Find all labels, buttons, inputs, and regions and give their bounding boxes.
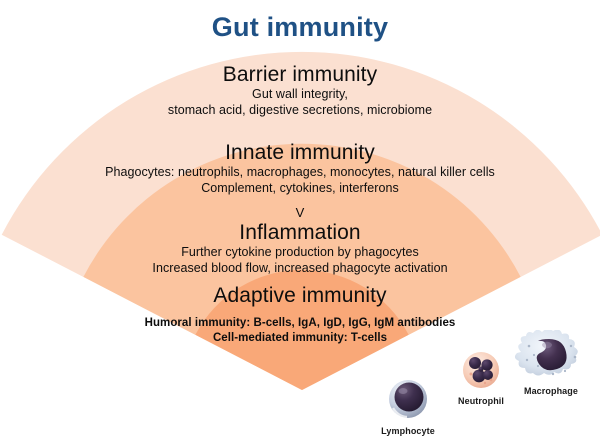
inflammation-line-2: Increased blood flow, increased phagocyt…	[0, 261, 600, 277]
lymphocyte-icon	[369, 378, 447, 420]
barrier-immunity-heading: Barrier immunity	[0, 62, 600, 87]
neutrophil-label: Neutrophil	[443, 396, 519, 406]
barrier-immunity-line-2: stomach acid, digestive secretions, micr…	[0, 103, 600, 119]
inflammation-line-1: Further cytokine production by phagocyte…	[0, 245, 600, 261]
down-arrow-icon: V	[0, 205, 600, 220]
macrophage-label: Macrophage	[505, 386, 597, 396]
adaptive-immunity-line-1: Humoral immunity: B-cells, IgA, IgD, IgG…	[0, 316, 600, 331]
adaptive-immunity-heading: Adaptive immunity	[0, 283, 600, 308]
innate-immunity-line-2: Complement, cytokines, interferons	[0, 181, 600, 197]
innate-immunity-line-1: Phagocytes: neutrophils, macrophages, mo…	[0, 165, 600, 181]
barrier-immunity-line-1: Gut wall integrity,	[0, 87, 600, 103]
innate-immunity-text-block: Innate immunity Phagocytes: neutrophils,…	[0, 140, 600, 196]
inflammation-text-block: V Inflammation Further cytokine producti…	[0, 205, 600, 276]
inflammation-heading: Inflammation	[0, 220, 600, 245]
lymphocyte-label: Lymphocyte	[369, 426, 447, 436]
innate-immunity-heading: Innate immunity	[0, 140, 600, 165]
macrophage-icon	[505, 330, 597, 380]
diagram-canvas: Gut immunity Barrier immunity Gut wall i…	[0, 0, 600, 445]
macrophage-figure: Macrophage	[505, 330, 597, 396]
lymphocyte-figure: Lymphocyte	[369, 378, 447, 436]
barrier-immunity-text-block: Barrier immunity Gut wall integrity, sto…	[0, 62, 600, 118]
